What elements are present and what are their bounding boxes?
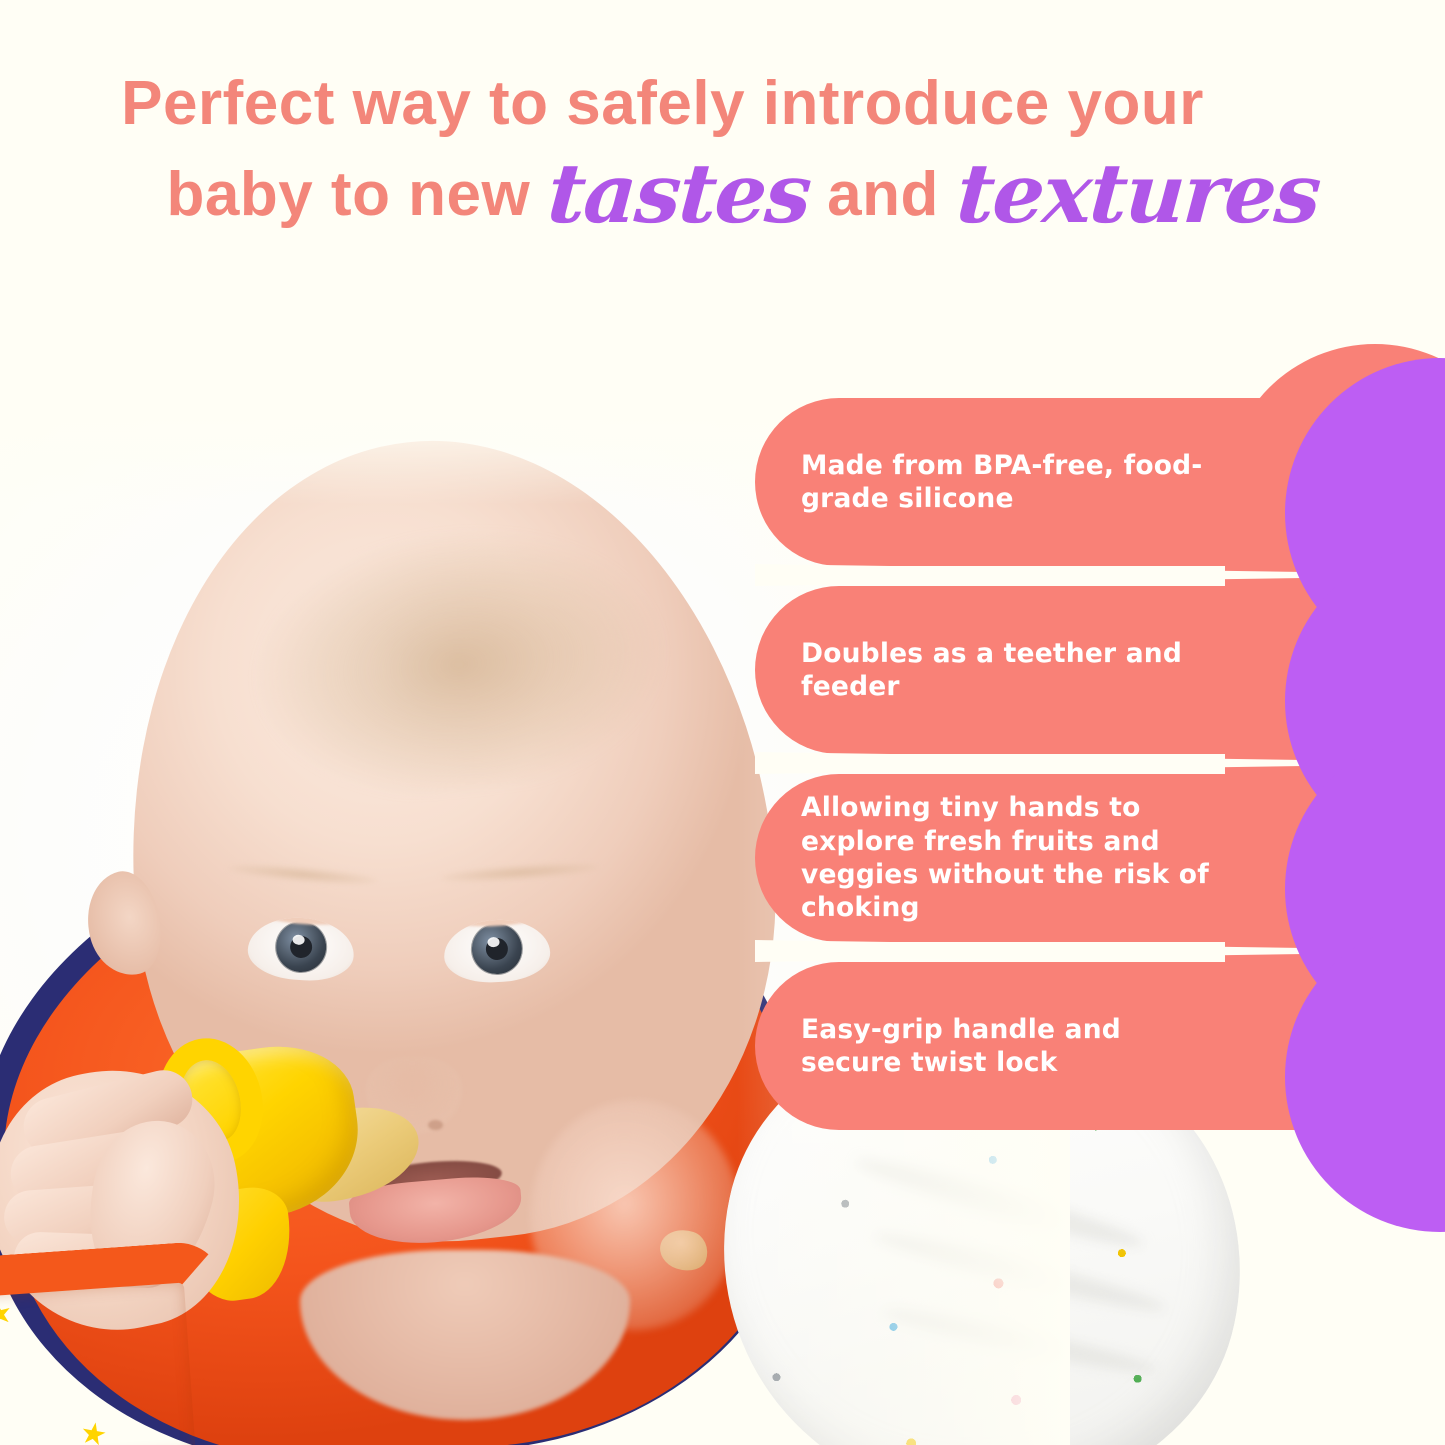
headline-script-tastes: tastes — [545, 153, 812, 237]
iris-left — [274, 920, 327, 973]
feature-item-1-label: Made from BPA-free, food-grade silicone — [801, 449, 1225, 516]
feeder-orange-handle — [0, 1240, 238, 1445]
page-title: Perfect way to safely introduce your bab… — [0, 72, 1445, 237]
feature-item-4-label: Easy-grip handle and secure twist lock — [801, 1013, 1225, 1080]
iris-right — [471, 923, 524, 976]
feature-item-3-label: Allowing tiny hands to explore fresh fru… — [801, 791, 1225, 925]
headline-script-textures: textures — [954, 153, 1322, 237]
star-decoration-icon: ★ — [78, 1418, 110, 1445]
feature-list: Made from BPA-free, food-grade silicone … — [755, 336, 1445, 1136]
headline-line-2: baby to new tastes and textures — [0, 153, 1445, 237]
headline-line-1: Perfect way to safely introduce your — [0, 72, 1445, 135]
headline-line-1-text: Perfect way to safely introduce your — [121, 69, 1204, 138]
headline-baby-to-new: baby to new — [166, 160, 547, 229]
headline-and: and — [809, 160, 956, 229]
nostril-right — [428, 1120, 443, 1130]
infographic-canvas: ★ ★ ★ ★ Perfect way to safely introduce … — [0, 0, 1445, 1445]
feature-item-2-label: Doubles as a teether and feeder — [801, 637, 1225, 704]
